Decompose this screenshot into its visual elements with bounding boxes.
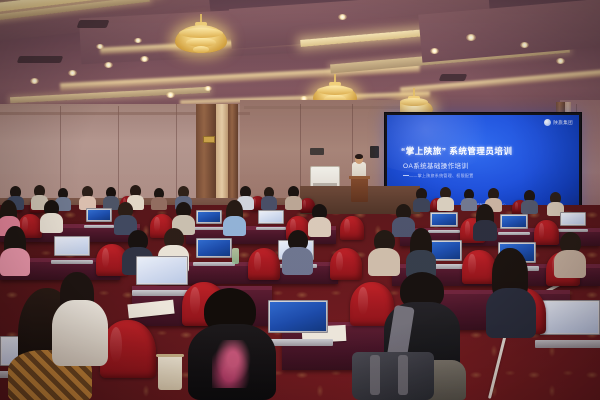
slide-title: “掌上陕旅” 系统管理员培训	[401, 145, 512, 157]
laptop	[136, 256, 188, 296]
wall-speaker	[310, 148, 324, 155]
laptop	[86, 208, 112, 228]
ceiling-vent-icon	[17, 56, 64, 63]
ceiling-vent-icon	[439, 74, 468, 81]
logo-name: 陕旅集团	[553, 120, 573, 126]
pillar-highlight	[216, 104, 228, 210]
coffee-cup	[158, 356, 182, 390]
logo-mark-icon	[544, 119, 551, 126]
laptop	[500, 214, 528, 235]
company-logo: 陕旅集团	[544, 119, 573, 126]
chandelier	[172, 14, 230, 60]
slide-subtitle: OA系统基础操作培训	[403, 160, 468, 170]
laptop	[560, 212, 586, 232]
podium	[351, 178, 368, 202]
seminar-photograph: 陕旅集团 “掌上陕旅” 系统管理员培训 OA系统基础操作培训 ——掌上陕旅系统管…	[0, 0, 600, 400]
laptop	[258, 210, 284, 230]
laptop	[196, 238, 232, 266]
ceiling-vent-icon	[77, 20, 110, 28]
wall-pillar	[228, 104, 238, 208]
laptop	[540, 300, 600, 348]
exit-sign	[203, 136, 215, 143]
podium-top	[349, 176, 370, 179]
laptop	[196, 210, 222, 230]
slide-footnote: ——掌上陕旅系统管理、权限配置	[409, 173, 474, 179]
wall-speaker	[370, 146, 379, 158]
water-bottle	[232, 248, 239, 264]
laptop	[268, 300, 328, 346]
presenter-hair	[355, 154, 363, 159]
wall-pillar	[196, 104, 216, 210]
laptop	[430, 212, 458, 233]
backpack	[352, 352, 434, 400]
laptop	[54, 236, 90, 264]
